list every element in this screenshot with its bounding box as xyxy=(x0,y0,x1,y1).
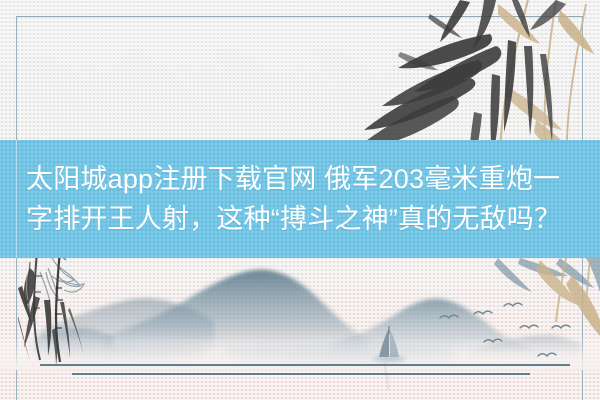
headline-line-1: 太阳城app注册下载官网 俄军203毫米重炮一 xyxy=(26,159,578,199)
horizontal-rule-top xyxy=(40,364,570,366)
paper-warm-gradient xyxy=(0,270,600,400)
banner-image: 太阳城app注册下载官网 俄军203毫米重炮一 字排开王人射，这种“搏斗之神”真… xyxy=(0,0,600,400)
headline-line-2: 字排开王人射，这种“搏斗之神”真的无敌吗？ xyxy=(26,199,578,239)
horizontal-rule-bottom xyxy=(72,373,530,375)
headline-text-block: 太阳城app注册下载官网 俄军203毫米重炮一 字排开王人射，这种“搏斗之神”真… xyxy=(0,140,600,258)
